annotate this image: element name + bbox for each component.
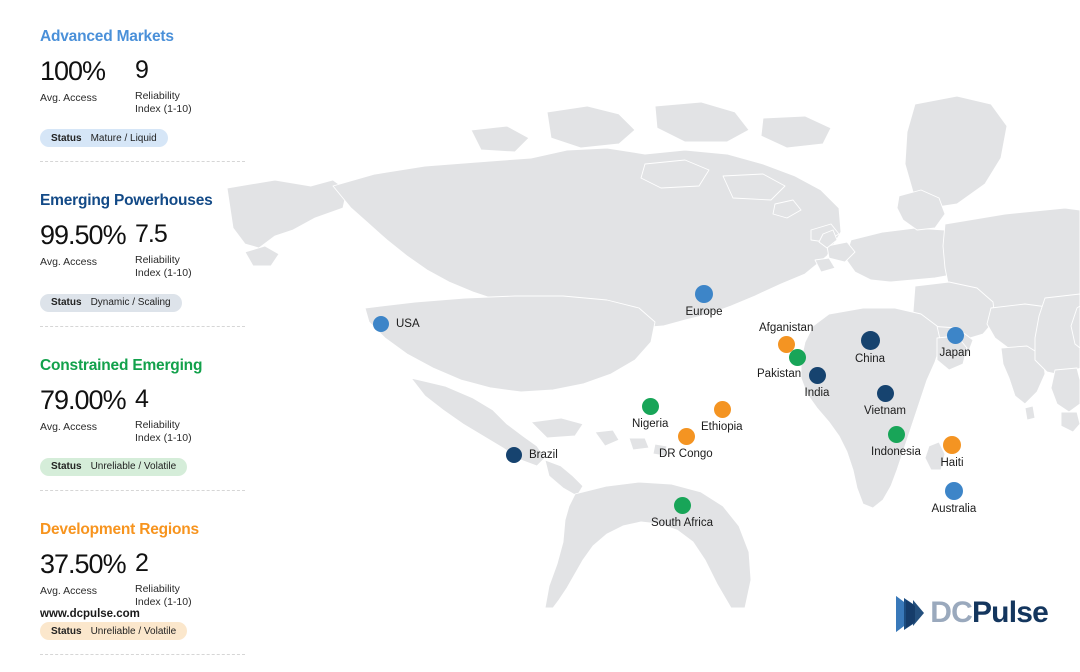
reliability-label: ReliabilityIndex (1-10): [135, 583, 245, 609]
map-marker-label: Europe: [686, 306, 723, 318]
map-marker-label: Brazil: [529, 449, 558, 461]
map-marker[interactable]: [674, 497, 691, 514]
map-marker[interactable]: [943, 436, 961, 454]
tier-stats: 37.50%Avg. Access2ReliabilityIndex (1-10…: [40, 551, 245, 609]
map-marker[interactable]: [642, 398, 659, 415]
reliability-label-line2: Index (1-10): [135, 267, 245, 280]
section-divider: [40, 161, 245, 162]
reliability-label-line2: Index (1-10): [135, 596, 245, 609]
status-badge: StatusUnreliable / Volatile: [40, 622, 187, 640]
tier-title: Advanced Markets: [40, 28, 245, 46]
status-badge-value: Unreliable / Volatile: [91, 626, 177, 637]
map-marker-label: USA: [396, 318, 420, 330]
map-marker-layer: USABrazilEuropeAfganistanPakistanIndiaCh…: [215, 8, 1080, 608]
status-badge: StatusUnreliable / Volatile: [40, 458, 187, 476]
market-tiers-panel: Advanced Markets100%Avg. Access9Reliabil…: [40, 28, 245, 669]
map-marker-label: Vietnam: [864, 405, 906, 417]
reliability-label-line1: Reliability: [135, 583, 245, 596]
tier-stats: 100%Avg. Access9ReliabilityIndex (1-10): [40, 58, 245, 116]
map-marker-label: Australia: [932, 503, 977, 515]
avg-access-label: Avg. Access: [40, 585, 135, 598]
section-divider: [40, 654, 245, 655]
avg-access-stat: 37.50%Avg. Access: [40, 551, 135, 598]
avg-access-stat: 100%Avg. Access: [40, 58, 135, 105]
reliability-label: ReliabilityIndex (1-10): [135, 254, 245, 280]
avg-access-label: Avg. Access: [40, 421, 135, 434]
reliability-value: 4: [135, 387, 245, 412]
reliability-label-line1: Reliability: [135, 254, 245, 267]
reliability-value: 2: [135, 551, 245, 576]
reliability-stat: 2ReliabilityIndex (1-10): [135, 551, 245, 609]
avg-access-value: 100%: [40, 58, 135, 85]
section-divider: [40, 490, 245, 491]
dcpulse-logo: DCPulse: [894, 592, 1048, 634]
map-marker[interactable]: [861, 331, 880, 350]
map-marker[interactable]: [695, 285, 713, 303]
avg-access-label: Avg. Access: [40, 92, 135, 105]
map-marker[interactable]: [506, 447, 522, 463]
status-badge: StatusDynamic / Scaling: [40, 294, 182, 312]
map-marker[interactable]: [877, 385, 894, 402]
avg-access-label: Avg. Access: [40, 256, 135, 269]
world-map: USABrazilEuropeAfganistanPakistanIndiaCh…: [215, 8, 1080, 608]
map-marker[interactable]: [678, 428, 695, 445]
tier-title: Constrained Emerging: [40, 357, 245, 375]
section-divider: [40, 326, 245, 327]
logo-text-dc: DC: [930, 596, 972, 629]
map-marker-label: DR Congo: [659, 448, 713, 460]
tier-title: Development Regions: [40, 521, 245, 539]
reliability-label: ReliabilityIndex (1-10): [135, 90, 245, 116]
map-marker-label: China: [855, 353, 885, 365]
map-marker-label: Haiti: [941, 457, 964, 469]
reliability-value: 9: [135, 58, 245, 83]
logo-chevron-icon: [894, 592, 928, 634]
map-marker-label: Pakistan: [757, 368, 801, 380]
map-marker[interactable]: [888, 426, 905, 443]
avg-access-stat: 79.00%Avg. Access: [40, 387, 135, 434]
status-badge-value: Unreliable / Volatile: [91, 461, 177, 472]
map-marker[interactable]: [789, 349, 806, 366]
status-badge-key: Status: [51, 461, 82, 472]
status-badge-key: Status: [51, 626, 82, 637]
status-badge-value: Mature / Liquid: [91, 133, 157, 144]
avg-access-stat: 99.50%Avg. Access: [40, 222, 135, 269]
reliability-value: 7.5: [135, 222, 245, 247]
reliability-stat: 4ReliabilityIndex (1-10): [135, 387, 245, 445]
reliability-label-line2: Index (1-10): [135, 432, 245, 445]
tier-card: Development Regions37.50%Avg. Access2Rel…: [40, 505, 245, 669]
map-marker[interactable]: [809, 367, 826, 384]
map-marker[interactable]: [947, 327, 964, 344]
map-marker-label: Japan: [940, 347, 971, 359]
map-marker[interactable]: [945, 482, 963, 500]
tier-title: Emerging Powerhouses: [40, 192, 245, 210]
map-marker-label: South Africa: [651, 517, 713, 529]
reliability-stat: 9ReliabilityIndex (1-10): [135, 58, 245, 116]
avg-access-value: 99.50%: [40, 222, 135, 249]
tier-card: Constrained Emerging79.00%Avg. Access4Re…: [40, 341, 245, 505]
map-marker-label: Ethiopia: [701, 421, 743, 433]
reliability-label-line1: Reliability: [135, 90, 245, 103]
reliability-label-line1: Reliability: [135, 419, 245, 432]
map-marker-label: Afganistan: [759, 322, 813, 334]
reliability-stat: 7.5ReliabilityIndex (1-10): [135, 222, 245, 280]
reliability-label: ReliabilityIndex (1-10): [135, 419, 245, 445]
avg-access-value: 79.00%: [40, 387, 135, 414]
footer-website-url[interactable]: www.dcpulse.com: [40, 608, 140, 620]
tier-card: Emerging Powerhouses99.50%Avg. Access7.5…: [40, 176, 245, 340]
status-badge-key: Status: [51, 297, 82, 308]
map-marker-label: Nigeria: [632, 418, 668, 430]
logo-text-pulse: Pulse: [972, 596, 1048, 629]
map-marker-label: Indonesia: [871, 446, 921, 458]
map-marker-label: India: [805, 387, 830, 399]
tier-card: Advanced Markets100%Avg. Access9Reliabil…: [40, 28, 245, 176]
status-badge-value: Dynamic / Scaling: [91, 297, 171, 308]
tier-stats: 99.50%Avg. Access7.5ReliabilityIndex (1-…: [40, 222, 245, 280]
status-badge: StatusMature / Liquid: [40, 129, 168, 147]
avg-access-value: 37.50%: [40, 551, 135, 578]
map-marker[interactable]: [373, 316, 389, 332]
tier-stats: 79.00%Avg. Access4ReliabilityIndex (1-10…: [40, 387, 245, 445]
reliability-label-line2: Index (1-10): [135, 103, 245, 116]
status-badge-key: Status: [51, 133, 82, 144]
map-marker[interactable]: [714, 401, 731, 418]
